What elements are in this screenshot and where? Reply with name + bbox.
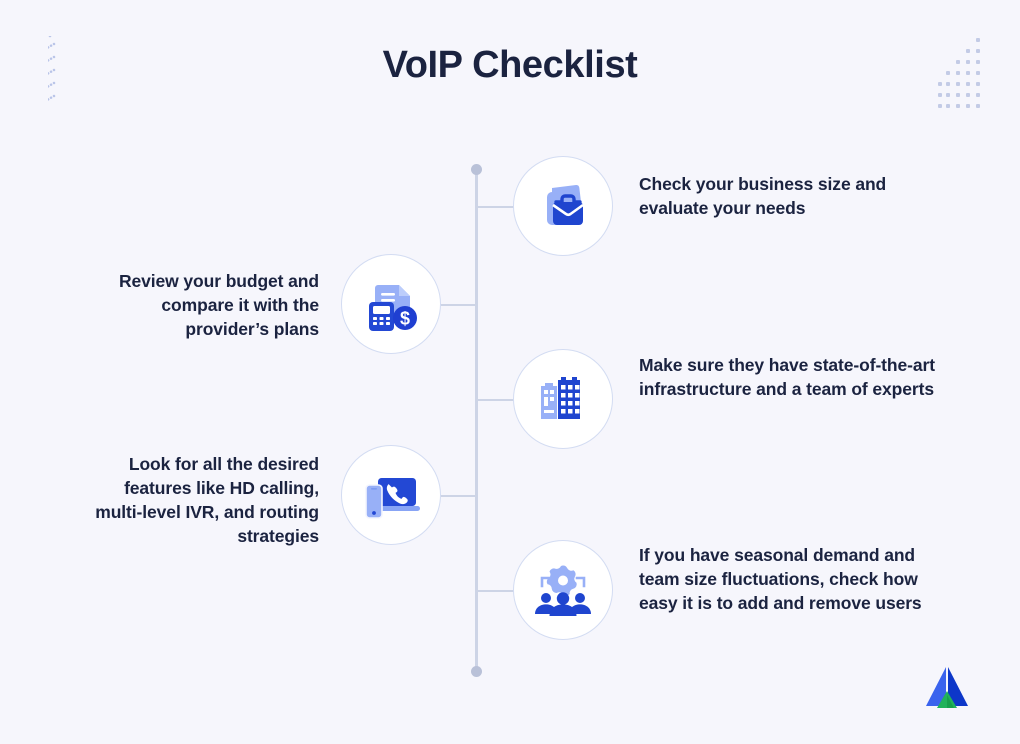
item-text-4: Look for all the desired features like H… xyxy=(89,452,319,548)
item-text-2: Review your budget and compare it with t… xyxy=(99,269,319,341)
connector-5 xyxy=(477,590,515,592)
item-text-3: Make sure they have state-of-the-art inf… xyxy=(639,353,939,401)
connector-1 xyxy=(477,206,515,208)
connector-2 xyxy=(441,304,478,306)
item-text-1: Check your business size and evaluate yo… xyxy=(639,172,939,220)
timeline-top-dot xyxy=(471,164,482,175)
infographic-canvas: VoIP Checklist xyxy=(0,0,1020,744)
item-text-5: If you have seasonal demand and team siz… xyxy=(639,543,929,615)
arrow-logo xyxy=(922,662,972,712)
decoration-diagonal-stripes xyxy=(48,36,94,106)
timeline-bottom-dot xyxy=(471,666,482,677)
icon-office-buildings-icon xyxy=(513,349,613,449)
connector-4 xyxy=(441,495,478,497)
timeline-spine xyxy=(475,170,478,672)
icon-team-settings-icon xyxy=(513,540,613,640)
icon-laptop-phone-call-icon xyxy=(341,445,441,545)
icon-invoice-calculator-dollar-icon: $ xyxy=(341,254,441,354)
icon-briefcase-folder-icon xyxy=(513,156,613,256)
svg-text:$: $ xyxy=(400,309,410,329)
decoration-dot-grid xyxy=(938,38,984,110)
page-title: VoIP Checklist xyxy=(0,44,1020,87)
connector-3 xyxy=(477,399,515,401)
